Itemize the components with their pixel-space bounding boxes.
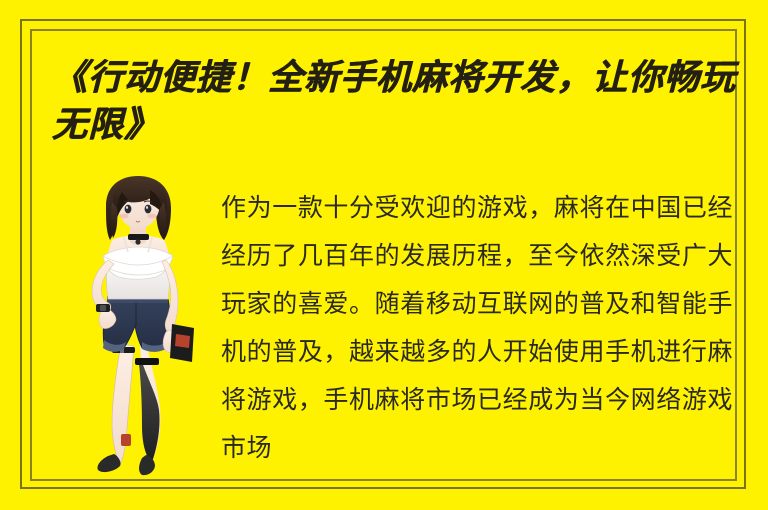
anime-girl-illustration: [72, 176, 208, 476]
white-ruffle-top: [103, 236, 173, 300]
article-body: 作为一款十分受欢迎的游戏，麻将在中国已经经历了几百年的发展历程，至今依然深受广大…: [221, 184, 733, 472]
handbag: [170, 324, 194, 362]
article-card: 《行动便捷！全新手机麻将开发，让你畅玩无限》: [0, 0, 768, 510]
leg-stocking: [135, 342, 161, 462]
article-title: 《行动便捷！全新手机麻将开发，让你畅玩无限》: [52, 54, 736, 148]
